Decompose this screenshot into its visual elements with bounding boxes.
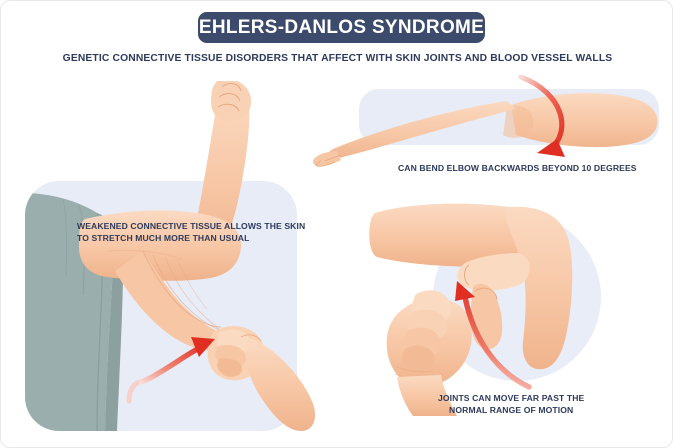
- joints-caption: JOINTS CAN MOVE FAR PAST THE NORMAL RANG…: [438, 393, 584, 416]
- infographic-canvas: CAN BEND ELBOW BACKWARDS BEYOND 10 DEGRE…: [0, 0, 673, 448]
- skin-caption-line2: TO STRETCH MUCH MORE THAN USUAL: [77, 233, 249, 243]
- title-badge: EHLERS-DANLOS SYNDROME: [198, 12, 485, 43]
- skin-caption: WEAKENED CONNECTIVE TISSUE ALLOWS THE SK…: [77, 221, 305, 244]
- page-title: EHLERS-DANLOS SYNDROME: [199, 17, 484, 39]
- elbow-caption: CAN BEND ELBOW BACKWARDS BEYOND 10 DEGRE…: [398, 163, 637, 175]
- joints-caption-line1: JOINTS CAN MOVE FAR PAST THE: [438, 393, 584, 403]
- skin-caption-line1: WEAKENED CONNECTIVE TISSUE ALLOWS THE SK…: [77, 221, 305, 231]
- joints-illustration: [369, 191, 669, 416]
- joints-caption-line2: NORMAL RANGE OF MOTION: [449, 405, 573, 415]
- skin-stretch-illustration: [19, 81, 339, 431]
- elbow-illustration: [311, 75, 671, 170]
- subtitle: GENETIC CONNECTIVE TISSUE DISORDERS THAT…: [1, 53, 673, 64]
